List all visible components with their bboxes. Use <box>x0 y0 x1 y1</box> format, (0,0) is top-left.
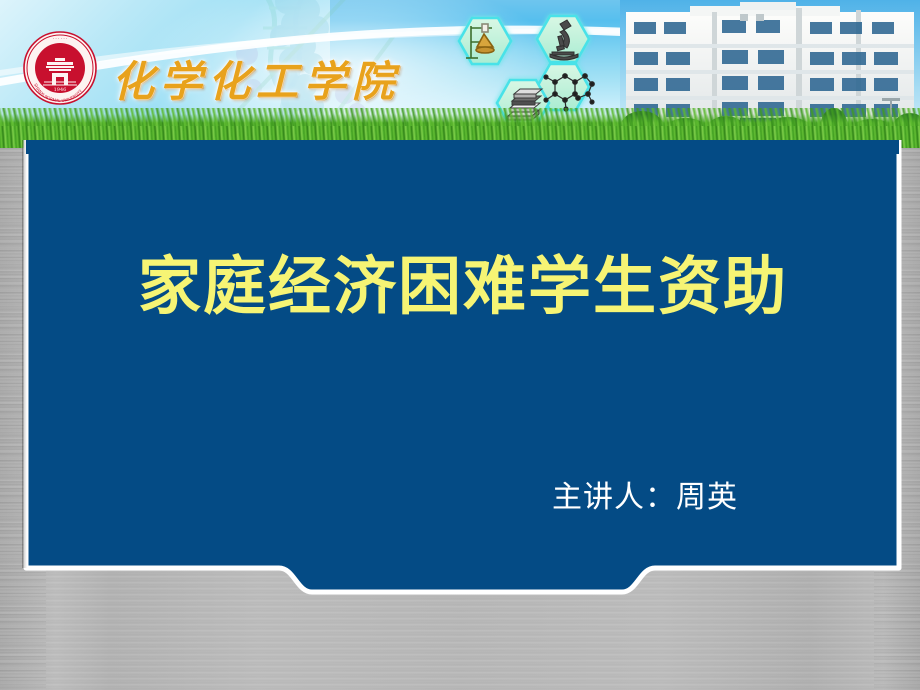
presenter-label: 主讲人：周英 <box>26 472 866 516</box>
svg-text:· · · · · ·: · · · · · · <box>53 36 68 41</box>
content-panel <box>0 140 920 610</box>
banner-grass-tips <box>0 108 920 126</box>
content-panel-shape <box>0 140 920 610</box>
header-banner: 1946 · · · · · · SHANXI NORMAL UNIVERSIT… <box>0 0 920 148</box>
college-name-calligraphy: 化学化工学院 <box>112 48 400 109</box>
presentation-slide: 1946 · · · · · · SHANXI NORMAL UNIVERSIT… <box>0 0 920 690</box>
university-seal-logo: 1946 · · · · · · SHANXI NORMAL UNIVERSIT… <box>22 30 98 106</box>
slide-title: 家庭经济困难学生资助 <box>26 236 900 327</box>
svg-text:1946: 1946 <box>54 87 67 93</box>
